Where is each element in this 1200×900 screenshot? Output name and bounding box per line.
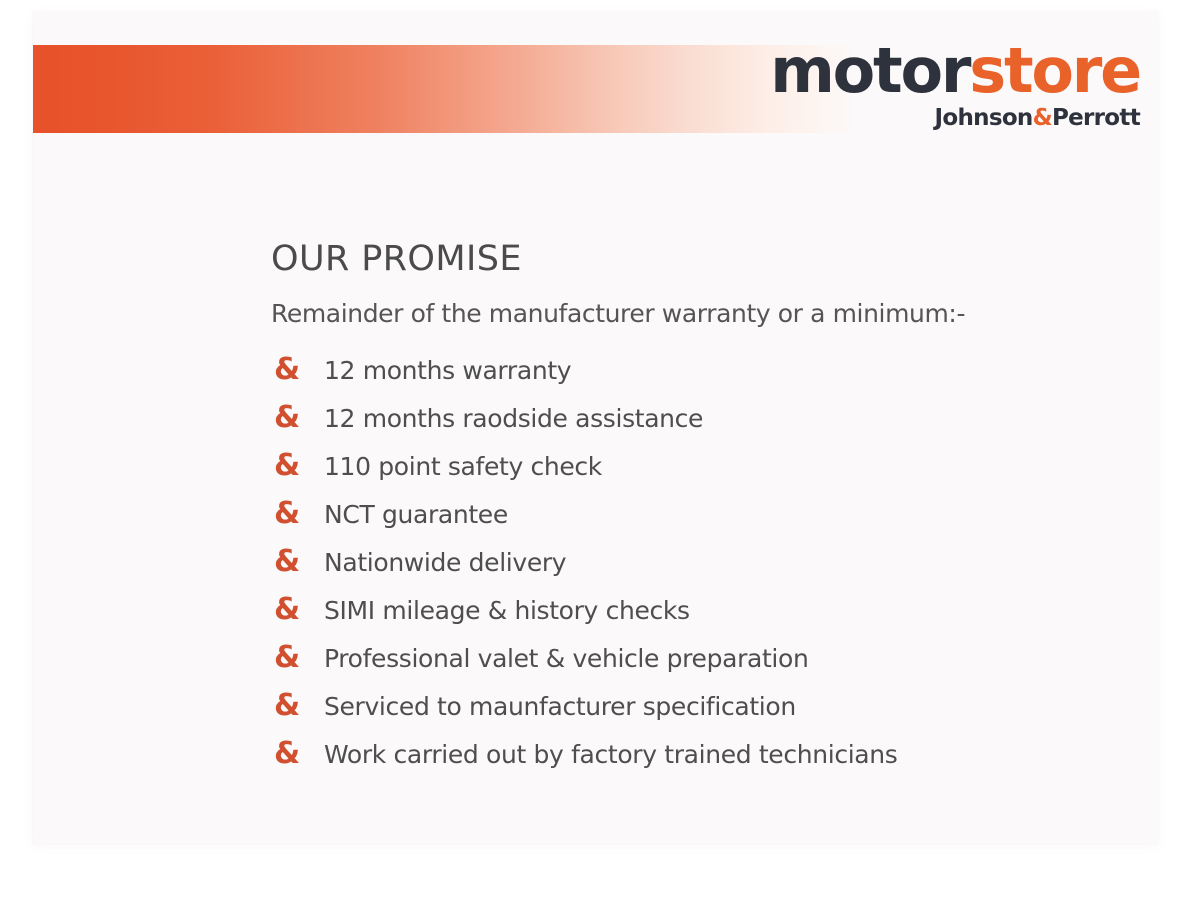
ampersand-bullet-icon: & xyxy=(271,451,324,481)
ampersand-bullet-icon: & xyxy=(271,643,324,673)
list-item: & NCT guarantee xyxy=(271,499,1171,547)
slide-root: motorstore Johnson&Perrott OUR PROMISE R… xyxy=(0,0,1200,900)
ampersand-bullet-icon: & xyxy=(271,691,324,721)
list-item-label: Nationwide delivery xyxy=(324,548,566,578)
brand-logo-perrott: Perrott xyxy=(1052,105,1140,131)
list-item: & SIMI mileage & history checks xyxy=(271,595,1171,643)
brand-logo: motorstore Johnson&Perrott xyxy=(770,40,1140,130)
list-item: & Nationwide delivery xyxy=(271,547,1171,595)
list-item: & 110 point safety check xyxy=(271,451,1171,499)
page-title: OUR PROMISE xyxy=(271,240,1171,279)
promise-subtitle: Remainder of the manufacturer warranty o… xyxy=(271,299,1171,329)
top-gradient-banner xyxy=(33,45,851,133)
brand-logo-motor: motor xyxy=(770,34,969,107)
ampersand-bullet-icon: & xyxy=(271,403,324,433)
list-item-label: SIMI mileage & history checks xyxy=(324,596,690,626)
list-item: & Work carried out by factory trained te… xyxy=(271,739,1171,787)
ampersand-bullet-icon: & xyxy=(271,355,324,385)
brand-logo-wordmark: motorstore xyxy=(770,40,1140,102)
list-item-label: 12 months raodside assistance xyxy=(324,404,703,434)
ampersand-bullet-icon: & xyxy=(271,595,324,625)
ampersand-bullet-icon: & xyxy=(271,547,324,577)
list-item: & Professional valet & vehicle preparati… xyxy=(271,643,1171,691)
list-item-label: NCT guarantee xyxy=(324,500,508,530)
list-item-label: Professional valet & vehicle preparation xyxy=(324,644,808,674)
list-item: & 12 months raodside assistance xyxy=(271,403,1171,451)
brand-logo-store: store xyxy=(969,34,1140,107)
ampersand-bullet-icon: & xyxy=(271,499,324,529)
ampersand-bullet-icon: & xyxy=(271,739,324,769)
brand-logo-subtitle: Johnson&Perrott xyxy=(770,107,1140,130)
brand-logo-ampersand-icon: & xyxy=(1033,105,1052,131)
promise-list: & 12 months warranty & 12 months raodsid… xyxy=(271,355,1171,787)
list-item: & 12 months warranty xyxy=(271,355,1171,403)
brand-logo-johnson: Johnson xyxy=(935,105,1033,131)
promise-content: OUR PROMISE Remainder of the manufacture… xyxy=(271,240,1171,787)
list-item: & Serviced to maunfacturer specification xyxy=(271,691,1171,739)
list-item-label: 12 months warranty xyxy=(324,356,571,386)
list-item-label: Work carried out by factory trained tech… xyxy=(324,740,897,770)
list-item-label: Serviced to maunfacturer specification xyxy=(324,692,796,722)
list-item-label: 110 point safety check xyxy=(324,452,602,482)
promise-card: motorstore Johnson&Perrott OUR PROMISE R… xyxy=(33,12,1158,844)
